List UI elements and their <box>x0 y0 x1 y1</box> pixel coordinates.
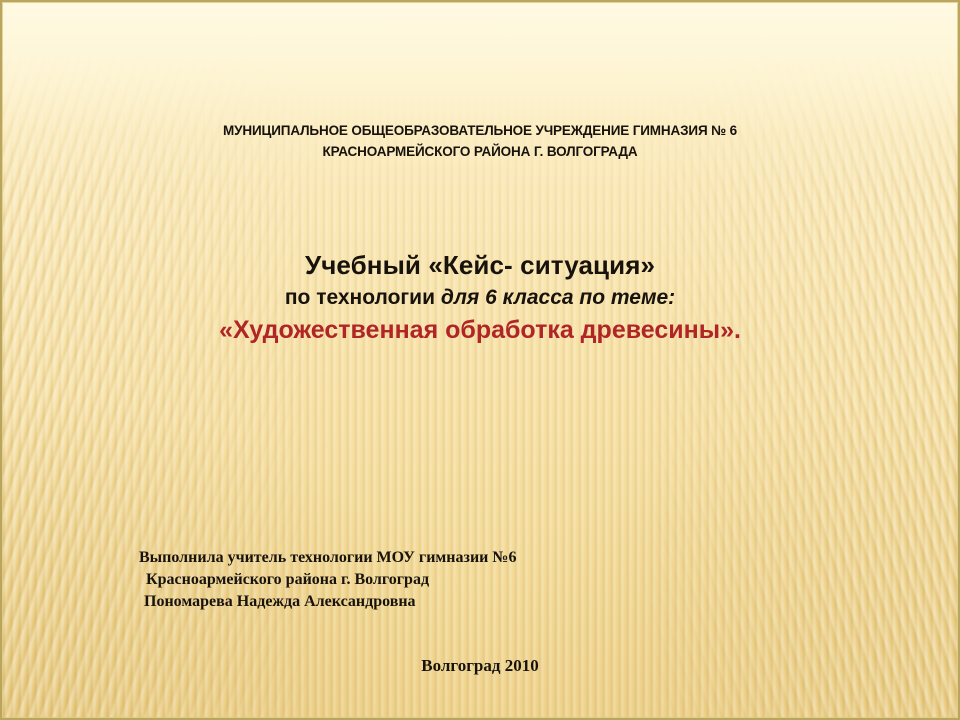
organization-header: МУНИЦИПАЛЬНОЕ ОБЩЕОБРАЗОВАТЕЛЬНОЕ УЧРЕЖД… <box>2 120 958 162</box>
footer-place-year: Волгоград 2010 <box>2 656 958 676</box>
author-line-1-role: Выполнила учитель технологии МОУ гимнази… <box>139 547 516 569</box>
author-line-3-name: Пономарева Надежда Александровна <box>139 591 516 613</box>
author-credit-block: Выполнила учитель технологии МОУ гимнази… <box>139 547 516 613</box>
slide-title-block: Учебный «Кейс- ситуация» по технологии д… <box>2 249 958 347</box>
title-line-2: по технологии для 6 класса по теме: <box>2 282 958 313</box>
organization-line-1: МУНИЦИПАЛЬНОЕ ОБЩЕОБРАЗОВАТЕЛЬНОЕ УЧРЕЖД… <box>223 123 737 138</box>
title-line-3-topic: «Художественная обработка древесины». <box>2 313 958 347</box>
title-line-2-prefix: по технологии <box>285 286 441 309</box>
author-line-2-location: Красноармейского района г. Волгоград <box>139 569 516 591</box>
title-line-2-emphasis: для 6 класса по теме: <box>441 286 675 309</box>
slide-content: МУНИЦИПАЛЬНОЕ ОБЩЕОБРАЗОВАТЕЛЬНОЕ УЧРЕЖД… <box>2 2 958 718</box>
organization-line-2: КРАСНОАРМЕЙСКОГО РАЙОНА Г. ВОЛГОГРАДА <box>2 141 958 162</box>
title-line-1: Учебный «Кейс- ситуация» <box>2 249 958 282</box>
presentation-slide: МУНИЦИПАЛЬНОЕ ОБЩЕОБРАЗОВАТЕЛЬНОЕ УЧРЕЖД… <box>0 0 960 720</box>
